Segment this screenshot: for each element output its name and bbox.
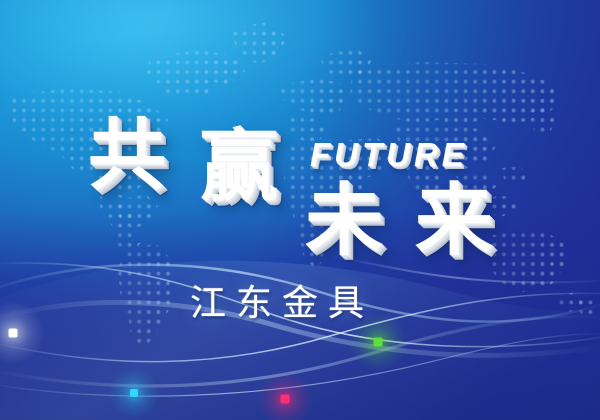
headline-group: 共 赢 FUTURE 未 来 江东金具	[0, 0, 600, 420]
headline-char-lai: 来	[415, 182, 493, 260]
headline-char-wei: 未	[305, 182, 383, 260]
headline-char-ying: 赢	[200, 128, 278, 206]
promo-banner: 共 赢 FUTURE 未 来 江东金具	[0, 0, 600, 420]
headline-future-text: FUTURE	[310, 136, 468, 174]
brand-name: 江东金具	[190, 274, 374, 326]
headline-char-gong: 共	[88, 117, 166, 195]
